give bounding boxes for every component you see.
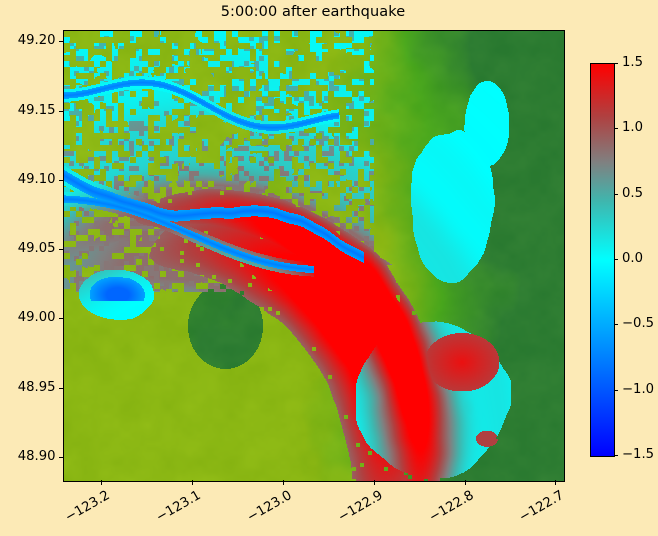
tsunami-heatmap <box>64 31 564 481</box>
y-tick-mark <box>59 111 64 112</box>
x-tick-mark <box>192 480 193 485</box>
x-tick-label: −122.9 <box>322 488 385 533</box>
map-axes[interactable] <box>63 30 565 482</box>
colorbar-tick-mark <box>614 63 618 64</box>
x-tick-mark <box>555 480 556 485</box>
x-tick-label: −123.0 <box>231 488 294 533</box>
y-tick-mark <box>59 388 64 389</box>
x-tick-mark <box>465 480 466 485</box>
x-tick-label: −122.7 <box>504 488 567 533</box>
y-tick-mark <box>59 180 64 181</box>
colorbar-gradient <box>591 64 614 456</box>
y-tick-label: 49.00 <box>4 310 56 325</box>
colorbar-tick-label: −0.5 <box>622 316 654 331</box>
colorbar-tick-mark <box>614 390 618 391</box>
x-tick-label: −122.8 <box>413 488 476 533</box>
colorbar-tick-label: 0.5 <box>622 186 643 201</box>
colorbar-tick-mark <box>614 324 618 325</box>
colorbar-tick-label: 0.0 <box>622 251 643 266</box>
y-tick-label: 48.90 <box>4 449 56 464</box>
colorbar-tick-label: 1.5 <box>622 55 643 70</box>
x-tick-mark <box>101 480 102 485</box>
colorbar-tick-label: 1.0 <box>622 120 643 135</box>
y-tick-label: 49.20 <box>4 33 56 48</box>
y-tick-label: 49.15 <box>4 103 56 118</box>
y-tick-mark <box>59 457 64 458</box>
colorbar-tick-mark <box>614 455 618 456</box>
y-tick-mark <box>59 249 64 250</box>
x-tick-label: −123.2 <box>49 488 112 533</box>
figure-canvas: 5:00:00 after earthquake 49.2049.1549.10… <box>0 0 658 536</box>
y-tick-label: 48.95 <box>4 380 56 395</box>
colorbar-tick-mark <box>614 194 618 195</box>
colorbar[interactable] <box>590 63 615 457</box>
y-tick-label: 49.05 <box>4 241 56 256</box>
colorbar-tick-mark <box>614 259 618 260</box>
plot-title: 5:00:00 after earthquake <box>63 4 563 20</box>
y-tick-mark <box>59 41 64 42</box>
x-tick-mark <box>374 480 375 485</box>
x-tick-mark <box>283 480 284 485</box>
y-tick-mark <box>59 318 64 319</box>
colorbar-tick-label: −1.0 <box>622 382 654 397</box>
colorbar-tick-label: −1.5 <box>622 447 654 462</box>
colorbar-tick-mark <box>614 128 618 129</box>
x-tick-label: −123.1 <box>140 488 203 533</box>
y-tick-label: 49.10 <box>4 172 56 187</box>
